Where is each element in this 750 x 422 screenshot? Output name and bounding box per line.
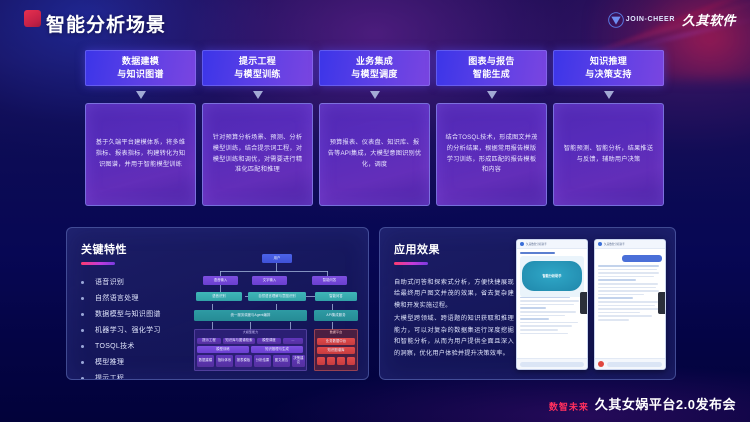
flow-step-2-body: 针对预算分析场景、预测、分析模型训练，结合提示词工程，对模型训练和调优，对需要进… — [202, 103, 313, 206]
app-input-bar[interactable] — [517, 358, 587, 369]
diagram-icon-db — [317, 357, 325, 365]
flow-step-5-body-text: 智能预测、智能分析，结果推送与反馈，辅助用户决策 — [561, 144, 656, 166]
flow-arrow-3 — [370, 86, 380, 103]
logo-mark: JOIN-CHEER — [608, 12, 675, 28]
bullet-icon — [81, 297, 84, 300]
bullet-icon — [81, 377, 84, 380]
diagram-cell: 分析结果 — [254, 355, 271, 367]
diagram-cell: 业务数据中台 — [317, 338, 355, 345]
flow-arrow-4 — [487, 86, 497, 103]
app-titlebar: 久其数智分析助手 — [595, 240, 665, 249]
flow-arrow-1 — [136, 86, 146, 103]
list-item: 自然语言处理 — [81, 293, 161, 303]
feature-label: 机器学习、强化学习 — [95, 325, 161, 335]
app-titlebar: 久其数智分析助手 — [517, 240, 587, 249]
screenshot-gallery: 久其数智分析助手 智能分析助手 — [516, 239, 666, 370]
logo-en-text: JOIN-CHEER — [626, 16, 675, 23]
flow-step-1: 数据建模 与知识图谱 基于久端平台建模体系，将多维指标、报表指标，构建转化为知识… — [85, 50, 196, 206]
effect-inner: 应用效果 自助式问答和探索式分析，方便快捷展现给最终用户图文并茂的效果，省去复杂… — [394, 241, 514, 359]
flow-step-1-head-line1: 数据建模 — [122, 55, 159, 68]
mindmap-center-label: 智能分析助手 — [522, 261, 582, 291]
mindmap-area: 智能分析助手 — [520, 256, 584, 297]
key-features-inner: 关键特性 语音识别 自然语言处理 数据模型与知识图谱 — [81, 241, 161, 380]
effect-paragraph-2: 大模型跨领域、跨语题的知识获取和推理能力，可以对复杂的数据集运行深度挖掘和智能分… — [394, 313, 514, 359]
diagram-panel-model-title: 大模型能力 — [194, 330, 307, 336]
diagram-node-text-input: 文字输入 — [252, 276, 287, 285]
list-item: 数据模型与知识图谱 — [81, 309, 161, 319]
effect-title: 应用效果 — [394, 241, 514, 257]
effect-paragraph-1: 自助式问答和探索式分析，方便快捷展现给最终用户图文并茂的效果，省去复杂建模和开发… — [394, 277, 514, 311]
footer: 数智未来 久其女娲平台2.0发布会 — [549, 394, 736, 413]
collapse-handle[interactable] — [580, 292, 587, 314]
key-features-underline — [81, 262, 115, 265]
logo-cn-text: 久其软件 — [682, 10, 736, 29]
flow-step-4-head-line2: 智能生成 — [473, 68, 510, 81]
app-screenshot-1[interactable]: 久其数智分析助手 智能分析助手 — [516, 239, 588, 370]
lower-section: 关键特性 语音识别 自然语言处理 数据模型与知识图谱 — [66, 227, 676, 380]
flow-step-3-body: 预算报表、仪表盘、知识库、报告等API集成，大模型意图识别优化，调度 — [319, 103, 430, 206]
flow-step-4-body: 结合TOSQL技术，形成图文并茂的分析结果，根据常用报告模版学习训练，形成匹配的… — [436, 103, 547, 206]
flow-arrow-5 — [604, 86, 614, 103]
diagram-cell: 知识图谱库 — [317, 347, 355, 354]
architecture-diagram: 用户 语音输入 文字输入 智能问答 语音识别 自然语言理解与意图识别 智能问答 … — [190, 250, 362, 372]
diagram-node-service-bus: 统一服务调度与Agent编排 — [194, 310, 307, 321]
diagram-cell: ... — [283, 338, 303, 344]
diagram-cell: 知识库与图谱检索 — [223, 338, 255, 344]
list-item: TOSQL技术 — [81, 341, 161, 351]
flow-step-1-head-line2: 与知识图谱 — [117, 68, 164, 81]
flow-step-5-header[interactable]: 知识推理 与决策支持 — [553, 50, 664, 86]
flow-step-3-head-line2: 与模型调度 — [351, 68, 398, 81]
join-cheer-triangle-icon — [608, 12, 624, 28]
diagram-panel-data-title: 数据平台 — [314, 330, 358, 336]
diagram-node-user: 用户 — [262, 254, 292, 263]
flow-step-1-body: 基于久端平台建模体系，将多维指标、报表指标，构建转化为知识图谱，并用于智能模型训… — [85, 103, 196, 206]
flow-step-2-head-line1: 提示工程 — [239, 55, 276, 68]
diagram-cell: 报表模板 — [235, 355, 252, 367]
diagram-connector — [220, 271, 278, 272]
application-effect-card: 应用效果 自助式问答和探索式分析，方便快捷展现给最终用户图文并茂的效果，省去复杂… — [379, 227, 676, 380]
bullet-icon — [81, 313, 84, 316]
collapse-handle[interactable] — [658, 292, 665, 314]
slide-root: 智能分析场景 JOIN-CHEER 久其软件 数据建模 与知识图谱 基于久端平台… — [0, 0, 750, 422]
flow-step-2: 提示工程 与模型训练 针对预算分析场景、预测、分析模型训练，结合提示词工程，对模… — [202, 50, 313, 206]
diagram-cell: 提示工程 — [197, 338, 221, 344]
diagram-connector — [220, 285, 221, 292]
list-item: 提示工程 — [81, 373, 161, 380]
flow-step-2-header[interactable]: 提示工程 与模型训练 — [202, 50, 313, 86]
diagram-icon-db — [347, 357, 355, 365]
flow-step-3-head-line1: 业务集成 — [356, 55, 393, 68]
user-message-bubble — [622, 255, 662, 262]
flow-step-3-body-text: 预算报表、仪表盘、知识库、报告等API集成，大模型意图识别优化，调度 — [327, 138, 422, 171]
flow-step-5-head-line1: 知识推理 — [590, 55, 627, 68]
flow-arrow-2 — [253, 86, 263, 103]
diagram-node-qa: 智能问答 — [315, 292, 357, 301]
diagram-node-api-service: API集成服务 — [314, 310, 358, 321]
brand-logo: JOIN-CHEER 久其软件 — [608, 10, 736, 29]
diagram-node-nlu: 自然语言理解与意图识别 — [248, 292, 306, 301]
bullet-icon — [81, 281, 84, 284]
feature-label: 数据模型与知识图谱 — [95, 309, 161, 319]
bullet-icon — [81, 329, 84, 332]
key-features-title: 关键特性 — [81, 241, 161, 257]
flow-step-1-header[interactable]: 数据建模 与知识图谱 — [85, 50, 196, 86]
bullet-icon — [81, 361, 84, 364]
diagram-cell: 模型调度 — [257, 338, 281, 344]
page-title: 智能分析场景 — [24, 9, 166, 37]
feature-label: TOSQL技术 — [95, 341, 135, 351]
footer-event-title: 久其女娲平台2.0发布会 — [595, 394, 736, 413]
flow-step-5: 知识推理 与决策支持 智能预测、智能分析，结果推送与反馈，辅助用户决策 — [553, 50, 664, 206]
list-item: 模型推理 — [81, 357, 161, 367]
diagram-cell: 图文报告 — [273, 355, 290, 367]
flow-step-2-head-line2: 与模型训练 — [234, 68, 281, 81]
diagram-node-speech-recognition: 语音识别 — [196, 292, 242, 301]
feature-label: 模型推理 — [95, 357, 124, 367]
flow-step-4-header[interactable]: 图表与报告 智能生成 — [436, 50, 547, 86]
diagram-cell: 模型训练 — [197, 346, 249, 353]
diagram-cell: 指标体系 — [216, 355, 233, 367]
diagram-cell: 决策建议 — [292, 355, 305, 367]
footer-tagline: 数智未来 — [549, 400, 589, 413]
app-screenshot-2[interactable]: 久其数智分析助手 — [594, 239, 666, 370]
flow-step-5-body: 智能预测、智能分析，结果推送与反馈，辅助用户决策 — [553, 103, 664, 206]
flow-step-4-head-line1: 图表与报告 — [468, 55, 515, 68]
app-input-bar[interactable] — [595, 358, 665, 369]
app-content — [595, 249, 665, 326]
key-features-list: 语音识别 自然语言处理 数据模型与知识图谱 机器学习、强化学习 — [81, 277, 161, 380]
diagram-node-smart-qa: 智能问答 — [312, 276, 347, 285]
app-logo-icon — [598, 242, 602, 246]
page-title-text: 智能分析场景 — [46, 10, 166, 37]
feature-label: 语音识别 — [95, 277, 124, 287]
title-accent-square — [24, 10, 41, 27]
flow-step-4-body-text: 结合TOSQL技术，形成图文并茂的分析结果，根据常用报告模版学习训练，形成匹配的… — [444, 133, 539, 176]
feature-label: 自然语言处理 — [95, 293, 139, 303]
flow-row: 数据建模 与知识图谱 基于久端平台建模体系，将多维指标、报表指标，构建转化为知识… — [85, 50, 670, 206]
flow-step-5-head-line2: 与决策支持 — [585, 68, 632, 81]
app-title-text: 久其数智分析助手 — [526, 242, 547, 246]
diagram-icon-db — [327, 357, 335, 365]
flow-step-3: 业务集成 与模型调度 预算报表、仪表盘、知识库、报告等API集成，大模型意图识别… — [319, 50, 430, 206]
flow-step-2-body-text: 针对预算分析场景、预测、分析模型训练，结合提示词工程，对模型训练和调优，对需要进… — [210, 133, 305, 176]
app-logo-icon — [520, 242, 524, 246]
message-input[interactable] — [520, 362, 584, 367]
key-features-card: 关键特性 语音识别 自然语言处理 数据模型与知识图谱 — [66, 227, 369, 380]
diagram-icon-db — [337, 357, 345, 365]
message-input[interactable] — [607, 362, 662, 367]
list-item: 机器学习、强化学习 — [81, 325, 161, 335]
diagram-connector — [276, 271, 328, 272]
list-item: 语音识别 — [81, 277, 161, 287]
flow-step-4: 图表与报告 智能生成 结合TOSQL技术，形成图文并茂的分析结果，根据常用报告模… — [436, 50, 547, 206]
app-title-text: 久其数智分析助手 — [604, 242, 625, 246]
flow-step-1-body-text: 基于久端平台建模体系，将多维指标、报表指标，构建转化为知识图谱，并用于智能模型训… — [93, 138, 188, 171]
bullet-icon — [81, 345, 84, 348]
app-content: 智能分析助手 — [517, 249, 587, 339]
diagram-cell: 数据建模 — [197, 355, 214, 367]
diagram-cell: 知识推理与生成 — [251, 346, 303, 353]
effect-underline — [394, 262, 428, 265]
flow-step-3-header[interactable]: 业务集成 与模型调度 — [319, 50, 430, 86]
record-icon[interactable] — [598, 361, 604, 367]
feature-label: 提示工程 — [95, 373, 124, 380]
diagram-node-voice-input: 语音输入 — [203, 276, 238, 285]
